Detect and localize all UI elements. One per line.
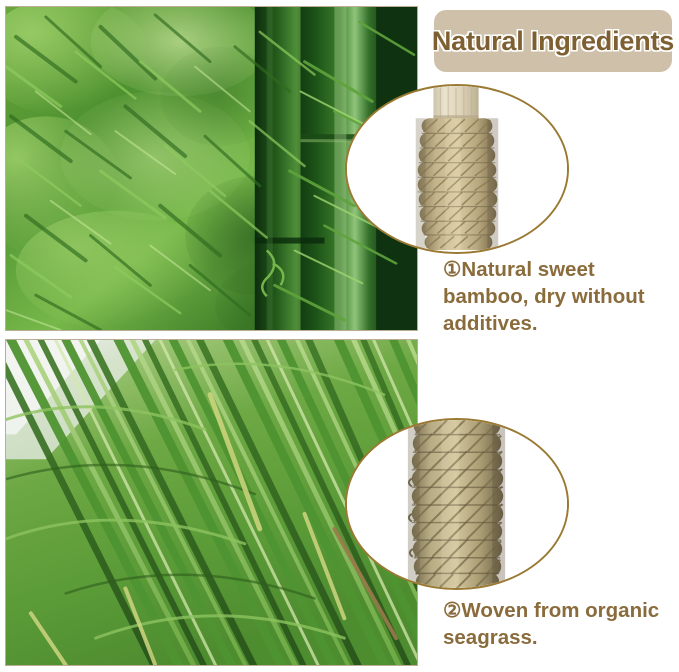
seagrass-weave-illustration xyxy=(347,420,567,588)
feature-caption-1: ①Natural sweet bamboo, dry without addit… xyxy=(443,256,679,337)
bamboo-stick-inset xyxy=(345,84,569,254)
seagrass-weave-inset xyxy=(345,418,569,590)
page-title: Natural Ingredients xyxy=(432,26,674,57)
feature-marker-2: ② xyxy=(443,599,461,622)
feature-marker-1: ① xyxy=(443,258,461,281)
title-banner: Natural Ingredients xyxy=(434,10,672,72)
infographic-page: Natural Ingredients ①Natural sweet bambo… xyxy=(0,0,679,672)
bamboo-stick-illustration xyxy=(347,86,567,252)
feature-text-1: Natural sweet bamboo, dry without additi… xyxy=(443,258,645,335)
feature-text-2: Woven from organic seagrass. xyxy=(443,599,659,649)
feature-caption-2: ②Woven from organic seagrass. xyxy=(443,597,679,651)
